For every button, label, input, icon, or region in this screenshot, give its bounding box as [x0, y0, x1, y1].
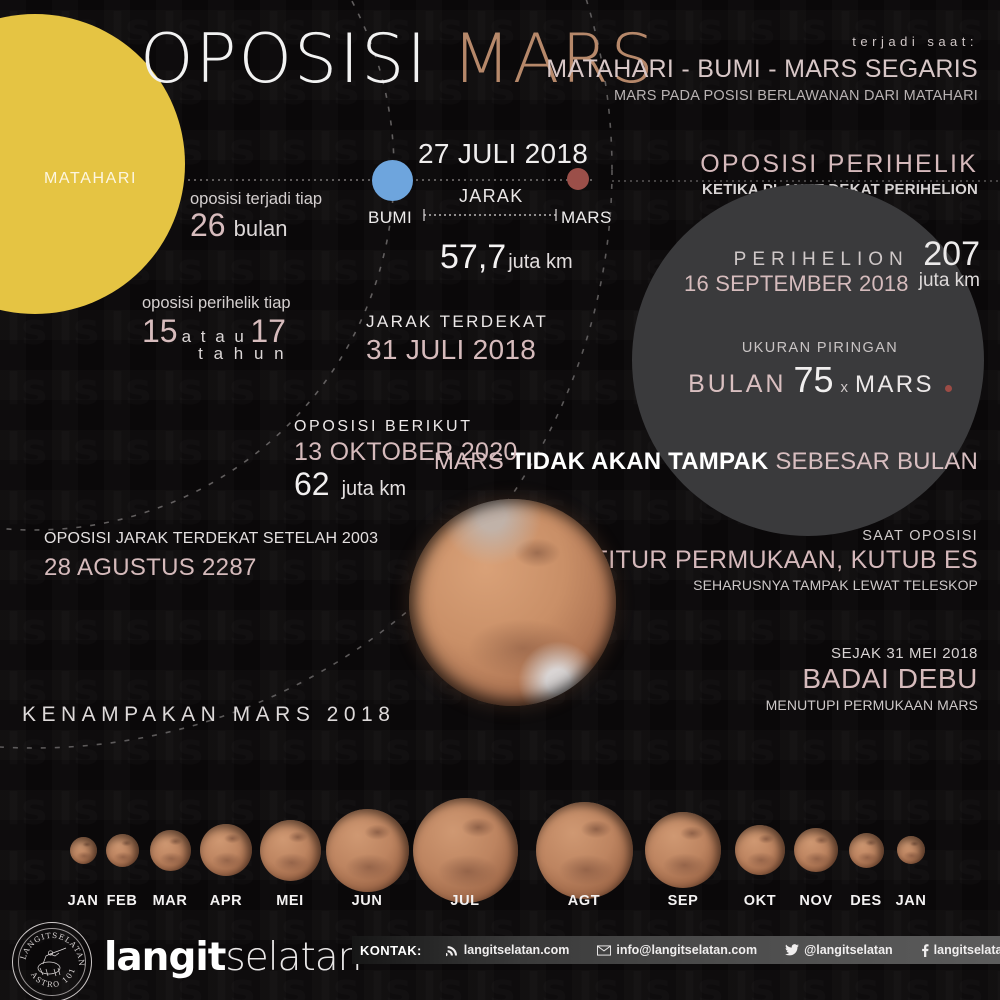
mars-disk-mar-2 [150, 830, 191, 871]
dust-storm-subline: MENUTUPI PERMUKAAN MARS [766, 697, 978, 713]
facebook-icon [921, 944, 929, 957]
header-headline: MATAHARI - BUMI - MARS SEGARIS [546, 55, 978, 84]
next-opposition-date: 13 OKTOBER 2020 [294, 438, 518, 467]
badge-bottom-text: ASTRO 101 [29, 966, 78, 989]
closest-after-2003-date: 28 AGUSTUS 2287 [44, 554, 378, 582]
month-label-11: DES [850, 893, 882, 909]
perihelion-date: 16 SEPTEMBER 2018 [684, 271, 909, 297]
perihelion-data-block: PERIHELION 16 SEPTEMBER 2018 207 juta km [660, 238, 980, 297]
mars-disk-apr-3 [200, 824, 252, 876]
month-label-10: NOV [799, 893, 832, 909]
dust-storm-headline: BADAI DEBU [766, 663, 978, 695]
month-label-1: FEB [107, 893, 138, 909]
closest-after-2003-caption: OPOSISI JARAK TERDEKAT SETELAH 2003 [44, 530, 378, 548]
contact-facebook-text: langitselatan [934, 943, 1000, 957]
mars-photo [409, 499, 616, 706]
mars-disk-jun-5 [326, 809, 409, 892]
brand-langit: langit [104, 935, 225, 980]
disk-size-block: UKURAN PIRINGAN BULAN 75 x MARS [660, 340, 980, 401]
mars-dot-icon [567, 168, 589, 190]
brand-wordmark: langitselatan [104, 935, 361, 980]
month-label-9: OKT [744, 893, 776, 909]
mars-disk-okt-9 [735, 825, 785, 875]
opposition-interval-value: 26 [190, 207, 226, 244]
mars-label: MARS [561, 208, 612, 228]
surface-features-headline: FITUR PERMUKAAN, KUTUB ES [593, 546, 978, 575]
disk-size-mars-label: MARS [855, 371, 934, 399]
brand-selatan: selatan [225, 935, 361, 980]
mars-disk-jan-0 [70, 837, 97, 864]
opposition-interval-unit: bulan [234, 216, 288, 242]
mars-apparent-size-chart: JANFEBMARAPRMEIJUNJULAGTSEPOKTNOVDESJAN [0, 745, 1000, 920]
rss-icon [446, 944, 459, 957]
perihelic-interval-caption: oposisi perihelik tiap [142, 294, 291, 313]
month-label-8: SEP [668, 893, 699, 909]
closest-distance-caption: JARAK TERDEKAT [366, 312, 548, 332]
mars-disk-jan-12 [897, 836, 925, 864]
warning-suffix: SEBESAR BULAN [768, 448, 978, 475]
month-label-6: JUL [450, 893, 479, 909]
disk-size-factor: 75 [793, 359, 833, 401]
surface-features-caption: SAAT OPOSISI [593, 528, 978, 544]
perihelic-interval-block: oposisi perihelik tiap 15 a t a u 17 t a… [142, 294, 291, 364]
twitter-icon [785, 944, 799, 956]
surface-features-block: SAAT OPOSISI FITUR PERMUKAAN, KUTUB ES S… [593, 528, 978, 593]
dust-storm-caption: SEJAK 31 MEI 2018 [766, 645, 978, 662]
month-label-0: JAN [68, 893, 99, 909]
opposition-interval-block: oposisi terjadi tiap 26 bulan [190, 190, 322, 244]
month-label-4: MEI [276, 893, 304, 909]
mars-disk-des-11 [849, 833, 884, 868]
mars-disk-agt-7 [536, 802, 633, 899]
mars-disk-mei-4 [260, 820, 321, 881]
next-opposition-caption: OPOSISI BERIKUT [294, 418, 518, 436]
mars-tiny-dot-icon [945, 385, 952, 392]
surface-features-subline: SEHARUSNYA TAMPAK LEWAT TELESKOP [593, 577, 978, 593]
header-subline: MARS PADA POSISI BERLAWANAN DARI MATAHAR… [546, 88, 978, 104]
perihelion-word: PERIHELION [684, 249, 909, 271]
contact-twitter[interactable]: @langitselatan [771, 943, 907, 957]
mars-disk-jul-6 [413, 798, 518, 903]
distance-unit: juta km [508, 251, 572, 274]
mars-disk-feb-1 [106, 834, 139, 867]
mail-icon [597, 945, 611, 956]
perihelic-interval-value-1: 15 [142, 313, 178, 350]
next-opposition-unit: juta km [342, 478, 406, 501]
month-label-5: JUN [352, 893, 383, 909]
next-opposition-value: 62 [294, 466, 330, 503]
contact-email-text: info@langitselatan.com [616, 943, 757, 957]
contact-label: KONTAK: [352, 943, 432, 958]
warning-bold: TIDAK AKAN TAMPAK [511, 448, 769, 475]
closest-distance-block: JARAK TERDEKAT 31 JULI 2018 [366, 312, 548, 366]
dust-storm-block: SEJAK 31 MEI 2018 BADAI DEBU MENUTUPI PE… [766, 645, 978, 713]
month-label-3: APR [210, 893, 242, 909]
contact-twitter-text: @langitselatan [804, 943, 893, 957]
mars-disk-nov-10 [794, 828, 838, 872]
perihelic-title: OPOSISI PERIHELIK [700, 150, 978, 179]
badge-top-text: LANGITSELATAN [19, 931, 87, 967]
month-label-2: MAR [153, 893, 188, 909]
mars-disk-sep-8 [645, 812, 721, 888]
distance-label: JARAK [459, 186, 524, 207]
month-label-7: AGT [568, 893, 600, 909]
perihelion-distance-value: 207 [919, 238, 980, 270]
contact-bar: KONTAK: langitselatan.com info@langitsel… [352, 936, 1000, 964]
title-word-oposisi: OPOSISI [140, 20, 429, 99]
header-block: terjadi saat: MATAHARI - BUMI - MARS SEG… [546, 34, 978, 104]
distance-value: 57,7 [440, 238, 506, 277]
closest-after-2003-block: OPOSISI JARAK TERDEKAT SETELAH 2003 28 A… [44, 530, 378, 582]
sun-label: MATAHARI [44, 170, 184, 188]
disk-size-moon-label: BULAN [688, 370, 786, 399]
months-section-title: KENAMPAKAN MARS 2018 [22, 703, 395, 727]
earth-dot-icon [372, 160, 413, 201]
infographic-poster: ls MATAHARI OPOSISI MARS terjadi saat: M… [0, 0, 1000, 1000]
disk-size-caption: UKURAN PIRINGAN [660, 340, 980, 356]
distance-value-block: 57,7 juta km [440, 238, 573, 277]
opposition-date: 27 JULI 2018 [418, 138, 588, 170]
perihelion-distance-unit: juta km [919, 270, 980, 292]
langitselatan-badge-logo: LANGITSELATAN ASTRO 101 [12, 922, 92, 1000]
contact-email[interactable]: info@langitselatan.com [583, 943, 771, 957]
svg-text:ASTRO 101: ASTRO 101 [29, 966, 78, 989]
closest-distance-date: 31 JULI 2018 [366, 334, 548, 366]
contact-website-text: langitselatan.com [464, 943, 570, 957]
contact-website[interactable]: langitselatan.com [432, 943, 584, 957]
disk-size-times: x [840, 379, 848, 396]
contact-facebook[interactable]: langitselatan [907, 943, 1000, 957]
svg-text:LANGITSELATAN: LANGITSELATAN [19, 931, 87, 967]
next-opposition-block: OPOSISI BERIKUT 13 OKTOBER 2020 62 juta … [294, 418, 518, 503]
header-kicker: terjadi saat: [546, 34, 978, 49]
earth-label: BUMI [368, 208, 412, 228]
month-label-12: JAN [896, 893, 927, 909]
